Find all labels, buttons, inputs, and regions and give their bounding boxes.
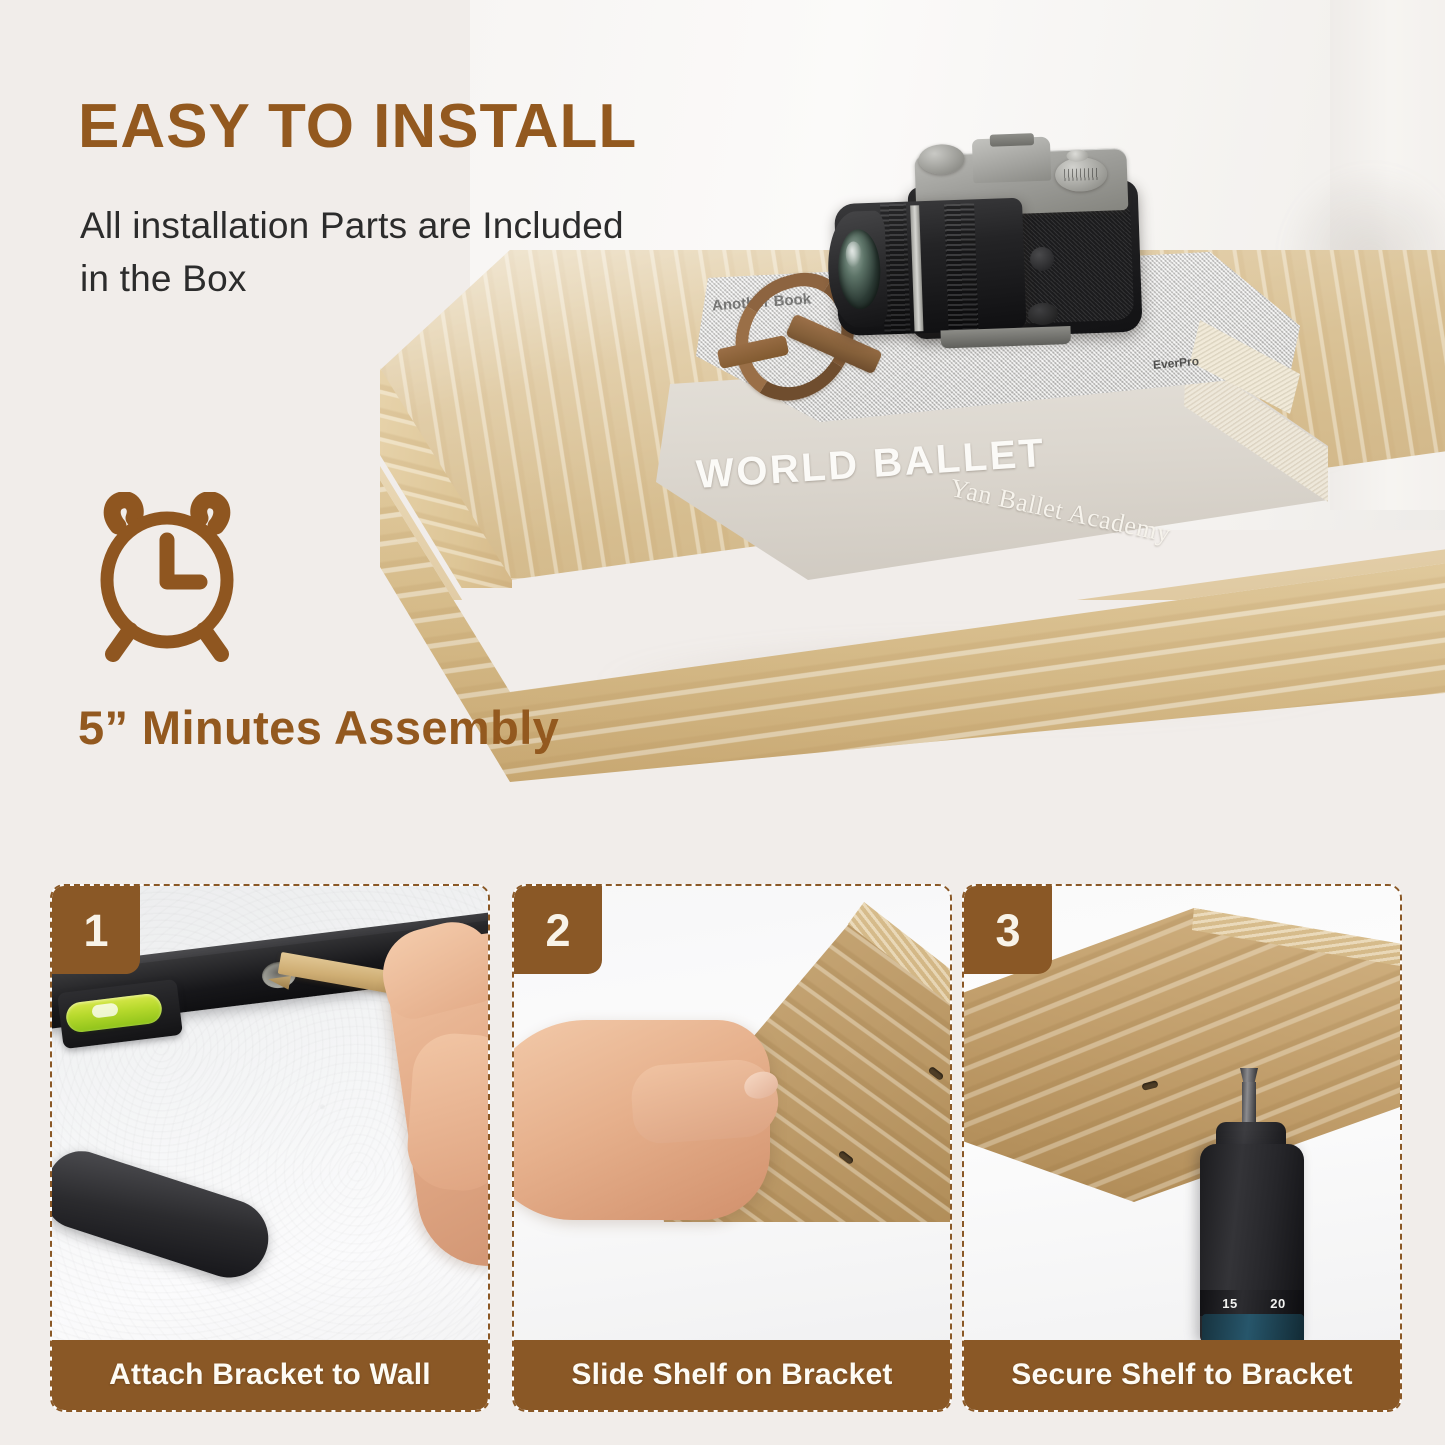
page-title: EASY TO INSTALL — [78, 96, 637, 158]
drill-torque-value-15: 15 — [1222, 1296, 1237, 1311]
drill-torque-scale: 15 20 — [1206, 1294, 1302, 1312]
step-panel-2: 2 Slide Shelf on Bracket — [512, 884, 952, 1412]
camera-zoom-ring — [944, 203, 978, 330]
step-caption: Secure Shelf to Bracket — [964, 1340, 1400, 1410]
fingers — [629, 1057, 780, 1145]
hero-section: WORLD BALLET Yan Ballet Academy Another … — [0, 0, 1445, 872]
camera-base-plate — [941, 326, 1072, 349]
step-number-badge: 3 — [964, 886, 1052, 974]
camera-hotshoe — [990, 133, 1034, 147]
hero-subtitle: All installation Parts are Included in t… — [80, 200, 640, 305]
drill-torque-value-20: 20 — [1270, 1296, 1285, 1311]
step-panel-3: 15 20 3 Secure Shelf to Bracket — [962, 884, 1402, 1412]
thumb — [405, 1031, 488, 1193]
step-number-badge: 2 — [514, 886, 602, 974]
step-caption: Slide Shelf on Bracket — [514, 1340, 950, 1410]
installation-steps: 1 Attach Bracket to Wall 2 Slide Shelf o… — [0, 872, 1445, 1445]
step-panel-1: 1 Attach Bracket to Wall — [50, 884, 490, 1412]
alarm-clock-icon — [82, 492, 252, 667]
camera — [814, 127, 1153, 388]
assembly-time-label: 5” Minutes Assembly — [78, 700, 559, 755]
step-number-badge: 1 — [52, 886, 140, 974]
step-caption: Attach Bracket to Wall — [52, 1340, 488, 1410]
